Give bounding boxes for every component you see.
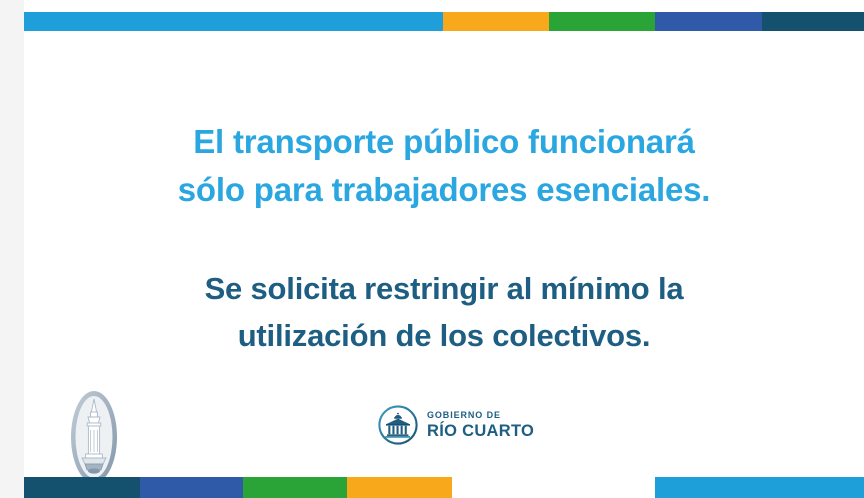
headline-line-2: sólo para trabajadores esenciales. [24,166,864,214]
tower-monument-watermark-icon [70,390,118,485]
bottom-bar-segment-orange [347,477,452,498]
bottom-bar-segment-dark-teal [24,477,140,498]
top-color-bar [24,12,864,31]
gov-logo-text: GOBIERNO DE RÍO CUARTO [427,411,534,440]
gobierno-rio-cuarto-logo: GOBIERNO DE RÍO CUARTO [378,405,534,445]
bottom-bar-segment-light-blue [655,477,864,498]
subline-text: Se solicita restringir al mínimo la util… [24,265,864,359]
top-bar-segment-orange [443,12,549,31]
subline-line-1: Se solicita restringir al mínimo la [24,265,864,312]
bottom-bar-segment-blue [140,477,243,498]
gov-logo-line-1: GOBIERNO DE [427,411,534,420]
bottom-bar-segment-gap [452,477,655,498]
top-bar-segment-green [549,12,655,31]
top-bar-segment-dark-teal [762,12,864,31]
top-bar-segment-blue [655,12,762,31]
gov-logo-line-2: RÍO CUARTO [427,423,534,440]
bottom-bar-segment-green [243,477,347,498]
slide-root: El transporte público funcionará sólo pa… [0,0,864,498]
subline-line-2: utilización de los colectivos. [24,312,864,359]
headline-text: El transporte público funcionará sólo pa… [24,118,864,214]
bottom-color-bar [24,477,864,498]
top-bar-segment-light-blue [24,12,443,31]
government-building-emblem-icon [378,405,418,445]
headline-line-1: El transporte público funcionará [24,118,864,166]
